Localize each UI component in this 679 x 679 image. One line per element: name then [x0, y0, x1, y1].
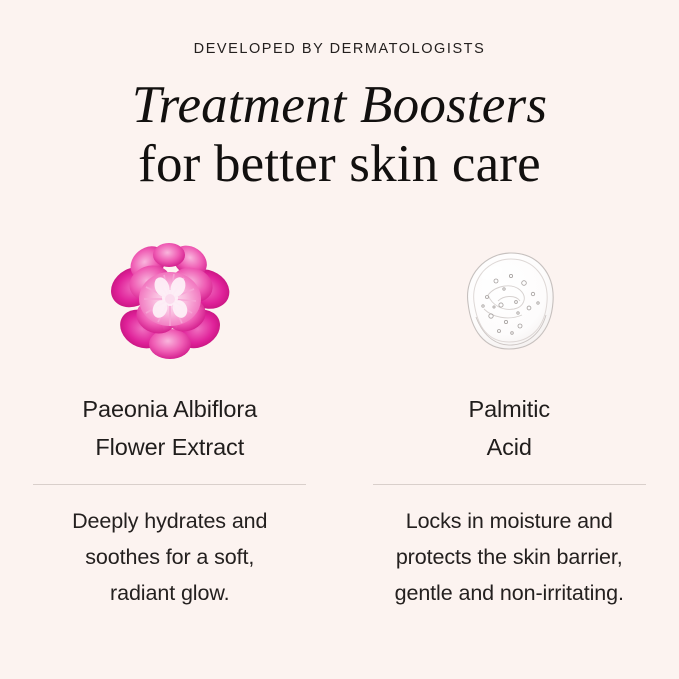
ingredient-columns: Paeonia Albiflora Flower Extract Deeply …: [0, 238, 679, 611]
divider: [33, 484, 306, 485]
page-title-line-2: for better skin care: [0, 135, 679, 194]
ingredient-description: Locks in moisture and protects the skin …: [395, 503, 624, 611]
page-title-line-1: Treatment Boosters: [0, 76, 679, 135]
clear-gel-blob-image: [439, 238, 579, 363]
ingredient-description: Deeply hydrates and soothes for a soft, …: [72, 503, 267, 611]
divider: [373, 484, 646, 485]
product-ingredient-infographic: DEVELOPED BY DERMATOLOGISTS Treatment Bo…: [0, 0, 679, 679]
ingredient-name: Palmitic Acid: [469, 390, 550, 466]
page-title: Treatment Boosters for better skin care: [0, 76, 679, 194]
eyebrow-text: DEVELOPED BY DERMATOLOGISTS: [0, 41, 679, 57]
peony-flower-image: [100, 238, 240, 363]
ingredient-card-peony: Paeonia Albiflora Flower Extract Deeply …: [0, 238, 340, 611]
ingredient-card-palmitic-acid: Palmitic Acid Locks in moisture and prot…: [340, 238, 679, 611]
ingredient-name: Paeonia Albiflora Flower Extract: [82, 390, 257, 466]
